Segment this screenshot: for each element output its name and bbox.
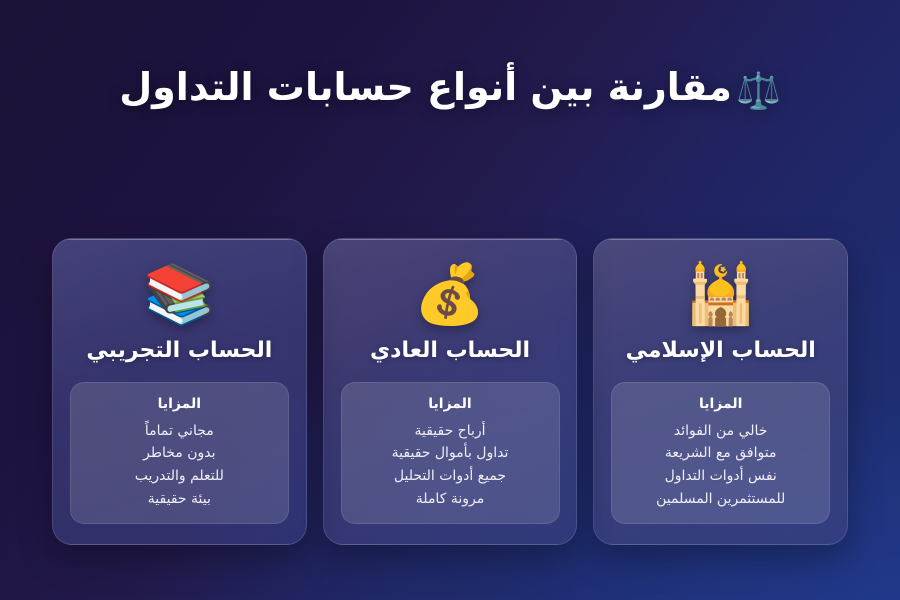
benefit-item: بدون مخاطر [143, 442, 215, 465]
benefit-item: بيئة حقيقية [148, 488, 211, 511]
account-type-cards: 🕌 الحساب الإسلامي المزايا خالي من الفوائ… [52, 238, 848, 545]
benefit-item: نفس أدوات التداول [665, 465, 777, 488]
benefits-panel-islamic-account: المزايا خالي من الفوائد متوافق مع الشريع… [611, 382, 830, 525]
benefits-heading: المزايا [428, 394, 471, 415]
benefits-panel-demo-account: المزايا مجاني تماماً بدون مخاطر للتعلم و… [70, 382, 289, 525]
card-title-islamic-account: الحساب الإسلامي [626, 337, 816, 366]
benefit-item: تداول بأموال حقيقية [392, 442, 509, 465]
benefit-item: جميع أدوات التحليل [394, 465, 506, 488]
card-standard-account[interactable]: 💰 الحساب العادي المزايا أرباح حقيقية تدا… [323, 238, 578, 545]
benefit-item: مرونة كاملة [416, 488, 484, 511]
comparison-infographic: ⚖️مقارنة بين أنواع حسابات التداول 🕌 الحس… [0, 0, 900, 600]
benefits-heading: المزايا [158, 394, 201, 415]
page-title-text: مقارنة بين أنواع حسابات التداول [119, 65, 732, 109]
benefit-item: خالي من الفوائد [674, 420, 768, 443]
mosque-icon: 🕌 [685, 261, 757, 327]
benefit-item: للتعلم والتدريب [135, 465, 224, 488]
benefit-item: مجاني تماماً [145, 420, 214, 443]
page-title-container: ⚖️مقارنة بين أنواع حسابات التداول [0, 62, 900, 116]
money-bag-icon: 💰 [414, 261, 486, 327]
benefit-item: متوافق مع الشريعة [665, 442, 777, 465]
card-title-demo-account: الحساب التجريبي [86, 337, 272, 366]
card-title-standard-account: الحساب العادي [370, 337, 530, 366]
balance-scale-icon: ⚖️ [736, 71, 781, 112]
books-icon: 📚 [143, 261, 215, 327]
page-title: ⚖️مقارنة بين أنواع حسابات التداول [104, 62, 796, 116]
benefit-item: أرباح حقيقية [414, 420, 485, 443]
card-islamic-account[interactable]: 🕌 الحساب الإسلامي المزايا خالي من الفوائ… [593, 238, 848, 545]
benefit-item: للمستثمرين المسلمين [656, 488, 785, 511]
benefits-heading: المزايا [699, 394, 742, 415]
benefits-panel-standard-account: المزايا أرباح حقيقية تداول بأموال حقيقية… [341, 382, 560, 525]
card-demo-account[interactable]: 📚 الحساب التجريبي المزايا مجاني تماماً ب… [52, 238, 307, 545]
